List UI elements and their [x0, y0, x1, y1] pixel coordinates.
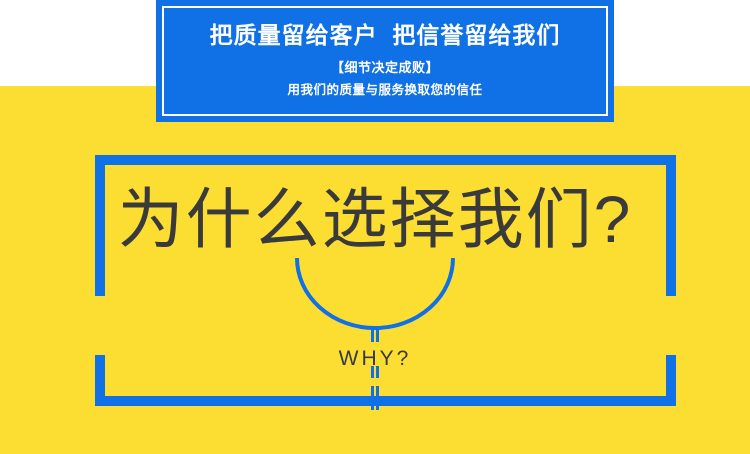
- arc-and-stem-icon: [281, 250, 469, 410]
- page-title: 为什么选择我们?: [0, 186, 750, 252]
- header-banner: 把质量留给客户 把信誉留给我们 【细节决定成败】 用我们的质量与服务换取您的信任: [156, 0, 614, 122]
- stem-gap-mask-lower: [369, 378, 382, 386]
- promo-banner-graphic: 把质量留给客户 把信誉留给我们 【细节决定成败】 用我们的质量与服务换取您的信任…: [0, 0, 750, 454]
- header-banner-inner-border: 把质量留给客户 把信誉留给我们 【细节决定成败】 用我们的质量与服务换取您的信任: [162, 6, 608, 116]
- header-banner-subtitle-primary: 【细节决定成败】: [331, 60, 439, 76]
- header-banner-subtitle-secondary: 用我们的质量与服务换取您的信任: [287, 83, 482, 98]
- semicircle-arc-icon: [297, 258, 453, 328]
- arc-decoration: [281, 250, 469, 410]
- frame-edge-top: [95, 155, 676, 165]
- header-banner-title: 把质量留给客户 把信誉留给我们: [210, 22, 561, 48]
- why-label: WHY?: [0, 348, 750, 369]
